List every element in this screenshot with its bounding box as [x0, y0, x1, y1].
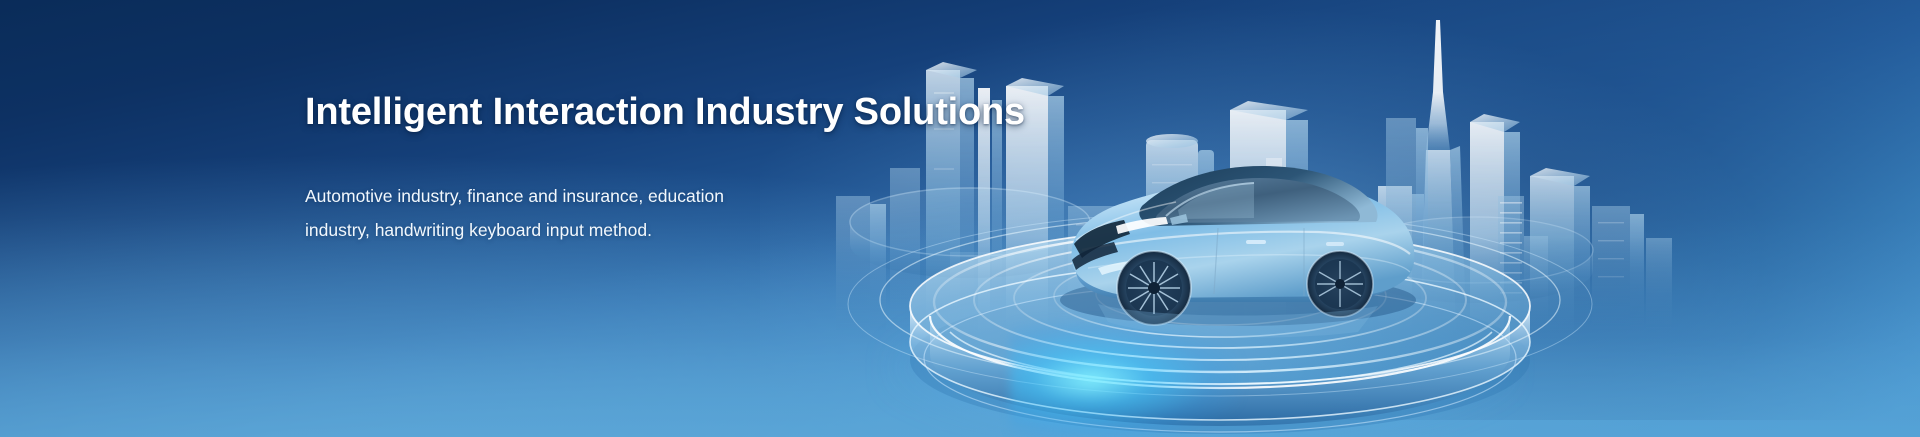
hero-banner: Intelligent Interaction Industry Solutio… [0, 0, 1920, 437]
banner-subtitle: Automotive industry, finance and insuran… [305, 179, 775, 247]
electric-car [1060, 166, 1416, 337]
rear-wheel [1307, 251, 1373, 317]
banner-copy: Intelligent Interaction Industry Solutio… [305, 92, 1005, 247]
banner-title: Intelligent Interaction Industry Solutio… [305, 92, 1005, 134]
